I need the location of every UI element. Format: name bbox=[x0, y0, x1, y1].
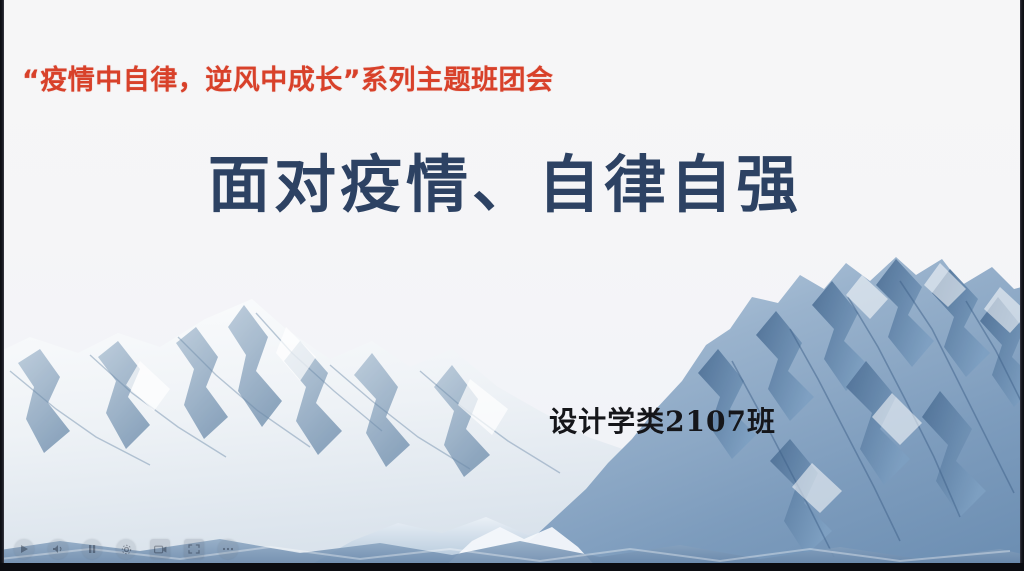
slide-main-title: 面对疫情、自律自强 bbox=[0, 152, 1024, 219]
volume-icon[interactable] bbox=[48, 539, 68, 559]
frame-edge-left bbox=[0, 0, 4, 571]
frame-edge-bottom bbox=[0, 563, 1024, 571]
video-icon[interactable] bbox=[150, 539, 170, 559]
slide-headline-red: “疫情中自律，逆风中成长”系列主题班团会 bbox=[22, 58, 554, 97]
settings-icon[interactable] bbox=[116, 539, 136, 559]
more-icon[interactable] bbox=[218, 539, 238, 559]
mountain-scenery-image bbox=[0, 241, 1024, 571]
play-icon[interactable] bbox=[14, 539, 34, 559]
media-player-toolbar[interactable] bbox=[14, 539, 238, 559]
fullscreen-icon[interactable] bbox=[184, 539, 204, 559]
pause-icon[interactable] bbox=[82, 539, 102, 559]
presentation-slide: “疫情中自律，逆风中成长”系列主题班团会 面对疫情、自律自强 设计学类2107班 bbox=[0, 0, 1024, 571]
frame-edge-right bbox=[1020, 0, 1024, 571]
slide-byline-class: 设计学类2107班 bbox=[549, 400, 776, 440]
